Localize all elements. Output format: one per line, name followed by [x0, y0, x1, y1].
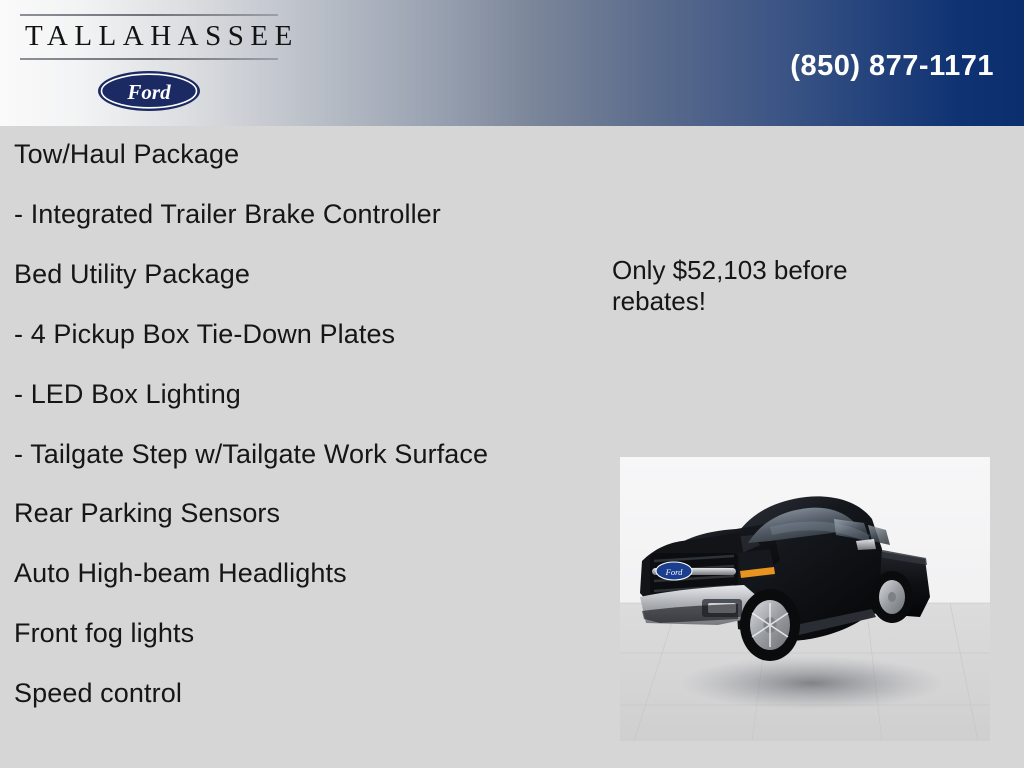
brand-rule-bottom: [20, 58, 278, 60]
vehicle-photo: Ford: [620, 457, 990, 741]
ford-oval-svg: Ford: [97, 70, 201, 112]
feature-item: Auto High-beam Headlights: [14, 557, 562, 590]
feature-item: Tow/Haul Package: [14, 138, 562, 171]
feature-item: - LED Box Lighting: [14, 378, 562, 411]
dealer-brand-block: TALLAHASSEE: [20, 14, 278, 60]
rear-wheel: [871, 571, 913, 623]
feature-item: - Integrated Trailer Brake Controller: [14, 198, 562, 231]
feature-item: - 4 Pickup Box Tie-Down Plates: [14, 318, 562, 351]
feature-item: Front fog lights: [14, 617, 562, 650]
grille-badge-text: Ford: [665, 567, 683, 577]
dealer-phone-number[interactable]: (850) 877-1171: [790, 50, 994, 83]
ford-wordmark: Ford: [126, 80, 171, 104]
dealer-name: TALLAHASSEE: [20, 16, 278, 56]
dealer-header-banner: TALLAHASSEE Ford (850) 877-1171: [0, 0, 1024, 126]
ford-oval-icon: Ford: [97, 70, 201, 112]
feature-item: Speed control: [14, 677, 562, 710]
slide-page: TALLAHASSEE Ford (850) 877-1171 Tow/Haul…: [0, 0, 1024, 768]
feature-item: - Tailgate Step w/Tailgate Work Surface: [14, 438, 562, 471]
ford-logo-wrap: Ford: [20, 70, 278, 112]
feature-item: Bed Utility Package: [14, 258, 562, 291]
vehicle-feature-list: Tow/Haul Package - Integrated Trailer Br…: [14, 138, 562, 737]
vehicle-shadow: [680, 656, 944, 710]
vehicle-photo-svg: Ford: [620, 457, 990, 741]
feature-item: Rear Parking Sensors: [14, 497, 562, 530]
front-wheel: [740, 589, 800, 661]
price-callout: Only $52,103 before rebates!: [612, 255, 942, 317]
